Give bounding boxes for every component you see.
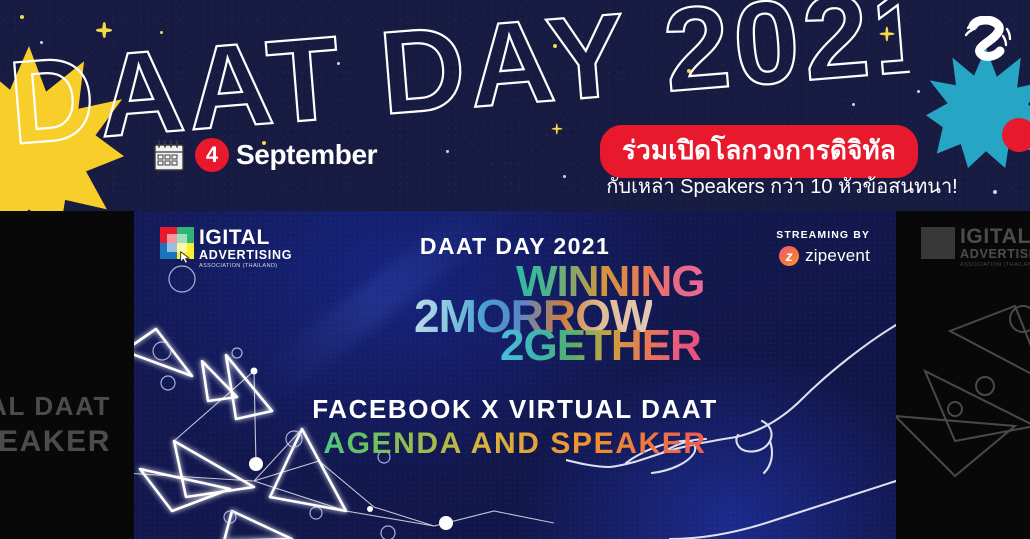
theme-line-2gether: 2GETHER [500, 321, 701, 371]
star-dot [563, 175, 566, 178]
backdrop-right-panel: IGITAL ADVERTISING ASSOCIATION (THAILAND… [895, 211, 1030, 539]
star-dot [852, 103, 855, 106]
star-icon [551, 123, 562, 134]
star-dot [553, 44, 557, 48]
star-dot [20, 15, 24, 19]
page-root: FACEBOOK X VIRTUAL DAAT AGENDA AND SPEAK… [0, 0, 1030, 539]
main-banner-card[interactable]: IGITAL ADVERTISING ASSOCIATION (THAILAND… [134, 211, 896, 539]
theme-wordmark: WINNING 2MORROW 2GETHER [414, 257, 694, 349]
star-icon [96, 22, 112, 38]
calendar-icon [152, 138, 186, 172]
zipevent-logo[interactable]: zipevent [776, 246, 870, 266]
logo-line-3: ASSOCIATION (THAILAND) [199, 262, 292, 271]
backdrop-ghost-headline: FACEBOOK X VIRTUAL DAAT [0, 391, 111, 422]
star-dot [40, 41, 43, 44]
card-headline: FACEBOOK X VIRTUAL DAAT [134, 394, 896, 425]
card-subheadline: AGENDA AND SPEAKER [134, 427, 896, 461]
event-date: 4 September [152, 138, 377, 172]
header-banner: DAAT DAY 2021 [0, 0, 1030, 211]
header-subtitle: กับเหล่า Speakers กว่า 10 หัวข้อสนทนา! [596, 170, 968, 202]
star-dot [687, 69, 691, 73]
star-dot [917, 90, 920, 93]
star-dot [160, 31, 163, 34]
star-dot [337, 62, 340, 65]
date-day-badge: 4 [195, 138, 229, 172]
backdrop-network-icon [895, 211, 1030, 539]
zipevent-logo-icon [779, 246, 799, 266]
star-icon [879, 26, 894, 41]
star-dot [446, 150, 449, 153]
streaming-by: STREAMING BY zipevent [776, 229, 870, 266]
backdrop-ghost-subheadline: AGENDA AND SPEAKER [0, 425, 111, 459]
backdrop-left-panel: FACEBOOK X VIRTUAL DAAT AGENDA AND SPEAK… [0, 211, 135, 539]
zipevent-z-icon [962, 16, 1012, 64]
date-month-label: September [236, 139, 377, 171]
streaming-label: STREAMING BY [776, 229, 870, 241]
star-dot [993, 190, 997, 194]
red-dot-decor [1002, 118, 1030, 152]
zipevent-name: zipevent [805, 246, 870, 266]
